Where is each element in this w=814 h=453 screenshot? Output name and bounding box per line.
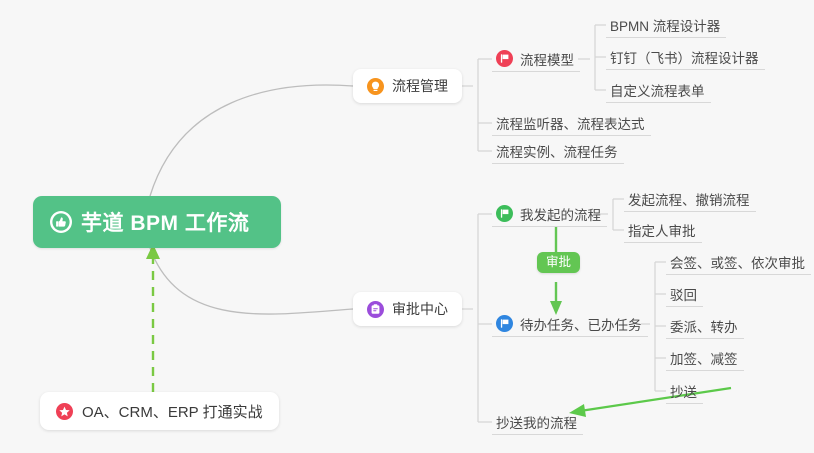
node-label: 指定人审批 (628, 220, 696, 240)
node-my-initiated[interactable]: 我发起的流程 (492, 201, 607, 227)
clipboard-icon (367, 301, 384, 318)
cc-arrow (580, 388, 731, 411)
node-start-cancel[interactable]: 发起流程、撤销流程 (624, 186, 756, 212)
node-label: 抄送 (670, 381, 697, 401)
node-add-remove-sign[interactable]: 加签、减签 (666, 345, 744, 371)
node-countersign[interactable]: 会签、或签、依次审批 (666, 249, 811, 275)
branch-process-management[interactable]: 流程管理 (353, 69, 462, 103)
node-label: BPMN 流程设计器 (610, 15, 720, 35)
node-reject[interactable]: 驳回 (666, 281, 703, 307)
branch-label: 流程管理 (392, 76, 448, 96)
mindmap-canvas[interactable]: 芋道 BPM 工作流 流程管理 流程模型 BPMN 流程设计器 钉钉（飞书）流程… (0, 0, 814, 453)
node-cc[interactable]: 抄送 (666, 378, 703, 404)
node-label: 会签、或签、依次审批 (670, 252, 805, 272)
node-instance-task[interactable]: 流程实例、流程任务 (492, 138, 624, 164)
root-label: 芋道 BPM 工作流 (81, 207, 249, 237)
node-cc-to-me[interactable]: 抄送我的流程 (492, 409, 583, 435)
node-delegate-transfer[interactable]: 委派、转办 (666, 313, 744, 339)
thumbs-up-icon (50, 211, 72, 233)
star-icon (56, 403, 73, 420)
node-label: 委派、转办 (670, 316, 738, 336)
node-dingtalk-designer[interactable]: 钉钉（飞书）流程设计器 (606, 44, 765, 70)
node-label: 驳回 (670, 284, 697, 304)
footnote-node[interactable]: OA、CRM、ERP 打通实战 (40, 392, 279, 430)
node-label: 发起流程、撤销流程 (628, 189, 750, 209)
flag-icon (496, 50, 513, 67)
node-listener-expression[interactable]: 流程监听器、流程表达式 (492, 110, 651, 136)
node-process-model[interactable]: 流程模型 (492, 46, 580, 72)
node-label: 自定义流程表单 (610, 80, 705, 100)
node-assignee-approval[interactable]: 指定人审批 (624, 217, 702, 243)
node-label: 抄送我的流程 (496, 412, 577, 432)
approval-annotation-label: 审批 (546, 255, 571, 269)
branch-label: 审批中心 (392, 299, 448, 319)
node-todo-done-tasks[interactable]: 待办任务、已办任务 (492, 311, 648, 337)
root-node[interactable]: 芋道 BPM 工作流 (33, 196, 281, 248)
approval-annotation-pill: 审批 (537, 252, 580, 273)
node-label: 流程监听器、流程表达式 (496, 113, 645, 133)
node-label: 流程模型 (520, 49, 574, 69)
link-root-to-approval-center (150, 248, 353, 314)
node-label: 加签、减签 (670, 348, 738, 368)
node-label: 待办任务、已办任务 (520, 314, 642, 334)
node-label: 流程实例、流程任务 (496, 141, 618, 161)
flag-icon (496, 315, 513, 332)
footnote-label: OA、CRM、ERP 打通实战 (82, 401, 263, 422)
flag-icon (496, 205, 513, 222)
node-custom-form[interactable]: 自定义流程表单 (606, 77, 711, 103)
link-root-to-process-management (150, 85, 353, 196)
node-label: 我发起的流程 (520, 204, 601, 224)
branch-approval-center[interactable]: 审批中心 (353, 292, 462, 326)
node-label: 钉钉（飞书）流程设计器 (610, 47, 759, 67)
node-bpmn-designer[interactable]: BPMN 流程设计器 (606, 12, 726, 38)
lightbulb-icon (367, 78, 384, 95)
